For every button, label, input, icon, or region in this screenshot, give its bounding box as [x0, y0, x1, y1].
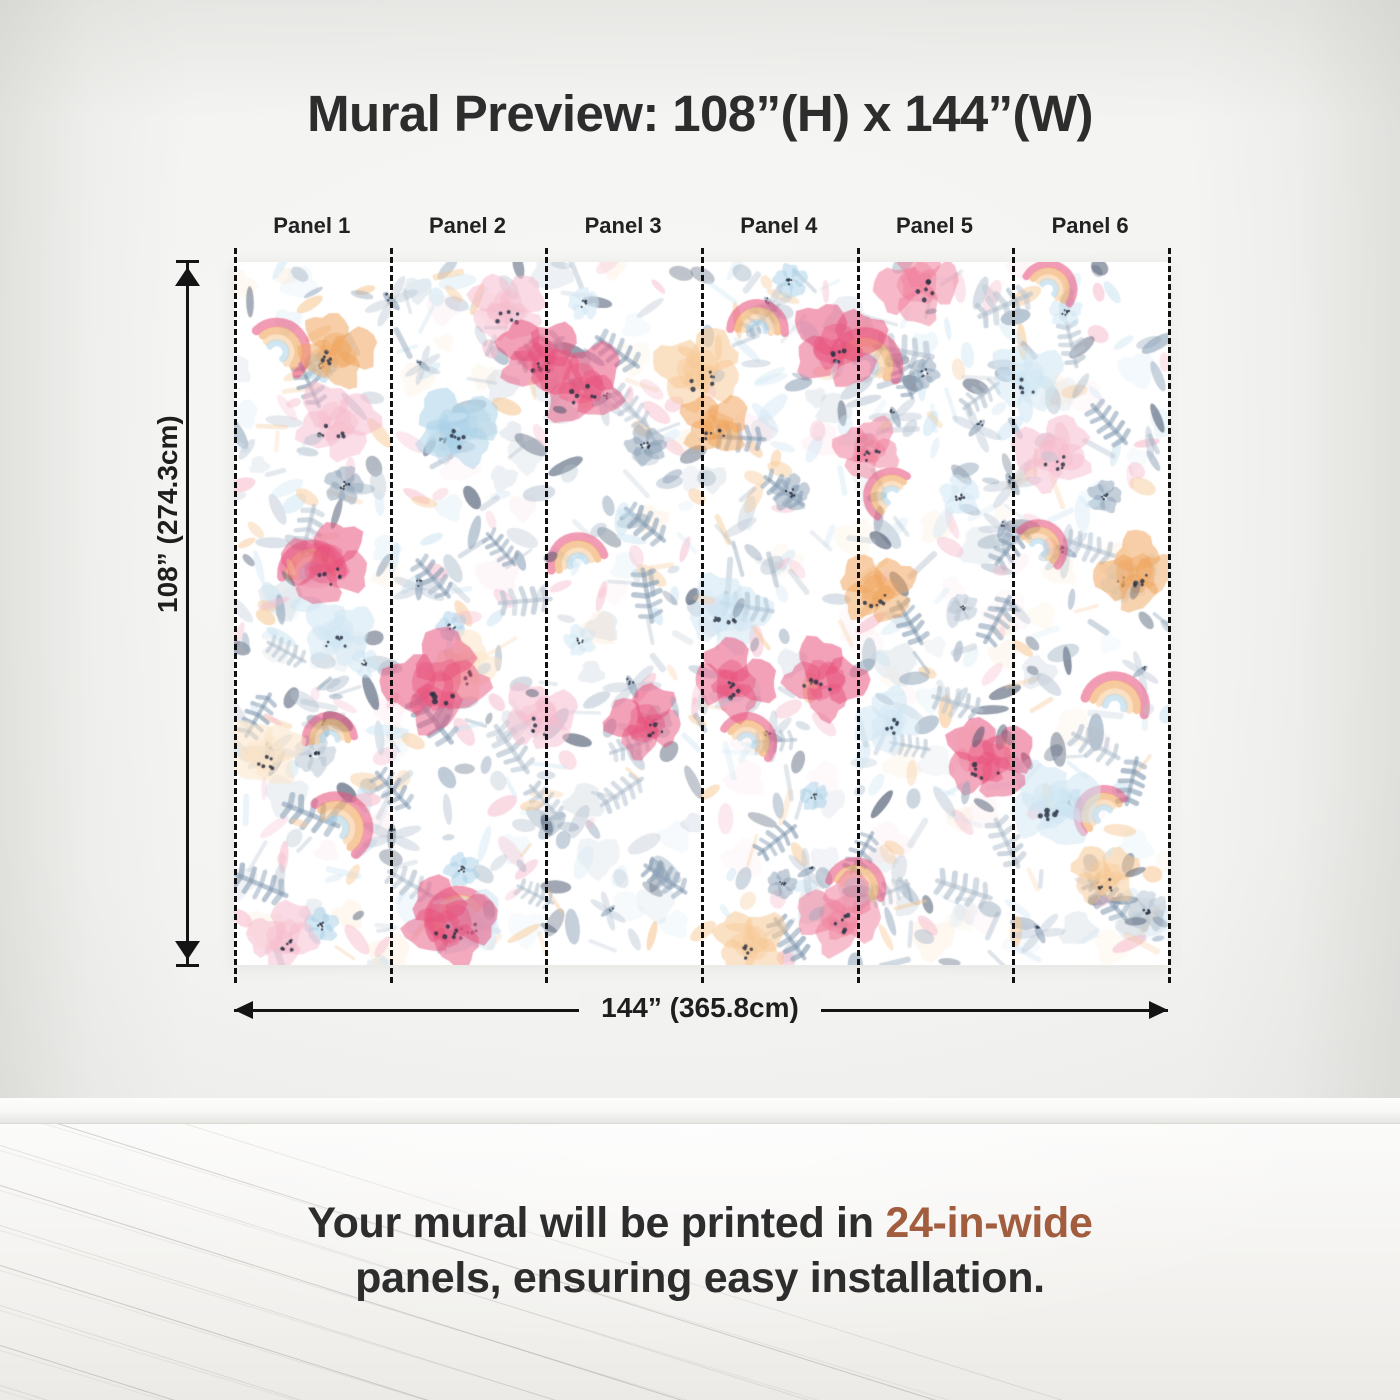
height-arrow-down-icon: [175, 941, 200, 959]
page-title: Mural Preview: 108”(H) x 144”(W): [0, 84, 1400, 143]
panel-label-6: Panel 6: [1012, 213, 1168, 239]
width-dimension-label: 144” (365.8cm): [0, 992, 1400, 1024]
panel-label-4: Panel 4: [701, 213, 857, 239]
wall-shade-right: [1190, 0, 1400, 1122]
panel-label-5: Panel 5: [857, 213, 1013, 239]
panel-divider-2: [545, 248, 548, 983]
panel-divider-4: [857, 248, 860, 983]
floor-grain-line: [0, 1338, 1400, 1400]
room-scene: Mural Preview: 108”(H) x 144”(W) Panel 1…: [0, 0, 1400, 1400]
width-dimension-text: 144” (365.8cm): [579, 992, 821, 1023]
panel-label-2: Panel 2: [390, 213, 546, 239]
mural-edge-left: [234, 248, 237, 983]
caption-line1-before: Your mural will be printed in: [307, 1199, 885, 1247]
height-dimension-line: [186, 262, 189, 965]
floor-grain-line: [0, 1378, 1400, 1400]
panel-label-1: Panel 1: [234, 213, 390, 239]
floor-plank-seam: [0, 1324, 1400, 1400]
caption-line-1: Your mural will be printed in 24-in-wide: [0, 1196, 1400, 1251]
height-arrow-up-icon: [175, 268, 200, 286]
panel-divider-5: [1012, 248, 1015, 983]
panel-divider-1: [390, 248, 393, 983]
floor-grain-line: [0, 1298, 1400, 1400]
mural-edge-right: [1168, 248, 1171, 983]
floor-plank-seam: [0, 1364, 1400, 1400]
caption-line-2: panels, ensuring easy installation.: [0, 1251, 1400, 1306]
panel-label-3: Panel 3: [545, 213, 701, 239]
panel-divider-3: [701, 248, 704, 983]
caption-accent-24-in-wide: 24-in-wide: [885, 1199, 1092, 1247]
caption: Your mural will be printed in 24-in-wide…: [0, 1196, 1400, 1306]
baseboard: [0, 1098, 1400, 1124]
height-dimension-label: 108” (274.3cm): [152, 415, 184, 613]
